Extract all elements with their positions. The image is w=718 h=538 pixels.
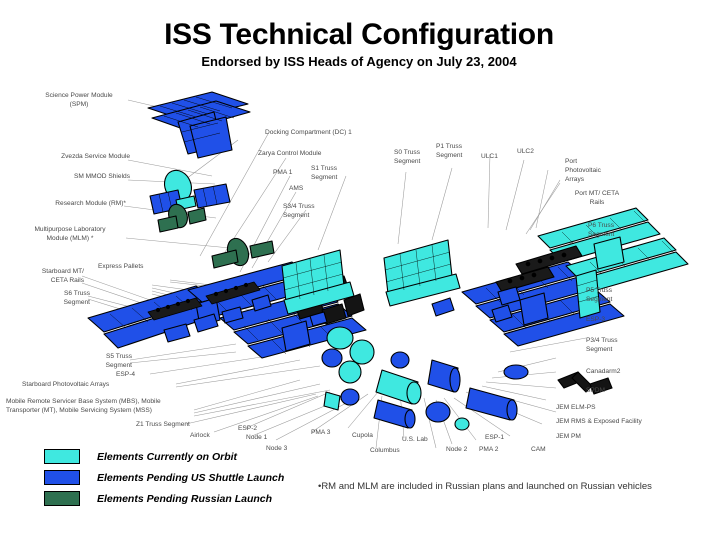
legend: Elements Currently on Orbit Elements Pen…: [44, 447, 284, 510]
label-airlock: Airlock: [190, 432, 210, 441]
label-port-pv: Port Photovoltaic Arrays: [565, 158, 601, 185]
module-us-lab: [376, 370, 421, 404]
label-s6: S6 Truss Segment: [18, 290, 90, 308]
label-ams: AMS: [289, 185, 303, 194]
label-esp1: ESP-1: [485, 434, 504, 443]
label-spm: Science Power Module (SPM): [28, 92, 130, 110]
module-columbus: [374, 400, 415, 428]
label-esp2: ESP-2: [238, 425, 257, 434]
label-s1: S1 Truss Segment: [311, 165, 337, 183]
label-pma3: PMA 3: [311, 429, 330, 438]
footnote: •RM and MLM are included in Russian plan…: [318, 481, 652, 492]
label-pma1: PMA 1: [273, 169, 292, 178]
legend-item-us-shuttle: Elements Pending US Shuttle Launch: [44, 468, 284, 487]
label-cam: CAM: [531, 446, 546, 455]
label-rm: Research Module (RM)*: [18, 200, 126, 209]
legend-swatch-on-orbit: [44, 449, 80, 464]
label-node1: Node 1: [246, 434, 267, 443]
module-zvezda: [150, 166, 230, 214]
label-p6: P6 Truss Segment: [588, 222, 614, 240]
module-node2: [428, 360, 460, 392]
legend-label-russian: Elements Pending Russian Launch: [97, 493, 272, 505]
label-esp4: ESP-4: [116, 371, 135, 380]
label-zarya: Zarya Control Module: [258, 150, 321, 159]
label-pma2: PMA 2: [479, 446, 498, 455]
label-starboard-mt: Starboard MT/ CETA Rails: [6, 268, 84, 286]
label-ulc1: ULC1: [481, 153, 498, 162]
label-spdm: SPDM: [586, 387, 605, 396]
label-us-lab: U.S. Lab: [402, 436, 428, 445]
label-port-mt: Port MT/ CETA Rails: [560, 190, 634, 208]
label-mbs: Mobile Remote Servicer Base System (MBS)…: [6, 398, 161, 416]
truss-s0: [384, 240, 460, 306]
label-esp3: ESP-3: [586, 316, 605, 325]
module-spm: [148, 92, 250, 158]
label-s0: S0 Truss Segment: [394, 149, 420, 167]
label-s5: S5 Truss Segment: [70, 353, 132, 371]
label-sm-mmod: SM MMOD Shields: [30, 173, 130, 182]
module-jem-pm: [466, 388, 517, 420]
legend-item-on-orbit: Elements Currently on Orbit: [44, 447, 284, 466]
legend-item-russian: Elements Pending Russian Launch: [44, 489, 284, 508]
legend-label-on-orbit: Elements Currently on Orbit: [97, 451, 237, 463]
label-starboard-pv: Starboard Photovoltaic Arrays: [22, 381, 109, 390]
label-canadarm2: Canadarm2: [586, 368, 620, 377]
truss-s1: [282, 250, 354, 314]
label-p5: P5 Truss Segment: [586, 287, 612, 305]
legend-swatch-russian: [44, 491, 80, 506]
legend-swatch-us-shuttle: [44, 470, 80, 485]
label-jem-rms: JEM RMS & Exposed Facility: [556, 418, 642, 427]
module-mlm: [212, 235, 274, 268]
legend-label-us-shuttle: Elements Pending US Shuttle Launch: [97, 472, 284, 484]
label-z1: Z1 Truss Segment: [136, 421, 190, 430]
label-p1: P1 Truss Segment: [436, 143, 462, 161]
label-cupola: Cupola: [352, 432, 373, 441]
label-p34: P3/4 Truss Segment: [586, 337, 618, 355]
label-jem-pm: JEM PM: [556, 433, 581, 442]
iss-configuration-diagram: ISS Technical Configuration Endorsed by …: [0, 0, 718, 538]
label-ulc2: ULC2: [517, 148, 534, 157]
label-jem-elm: JEM ELM-PS: [556, 404, 596, 413]
label-zvezda: Zvezda Service Module: [20, 153, 130, 162]
label-node2: Node 2: [446, 446, 467, 455]
label-express-pallets: Express Pallets: [98, 263, 143, 272]
label-s34: S3/4 Truss Segment: [283, 203, 315, 221]
label-columbus: Columbus: [370, 447, 400, 456]
label-mlm: Multipurpose Laboratory Module (MLM) *: [14, 226, 126, 244]
label-dc1: Docking Compartment (DC) 1: [265, 129, 352, 138]
